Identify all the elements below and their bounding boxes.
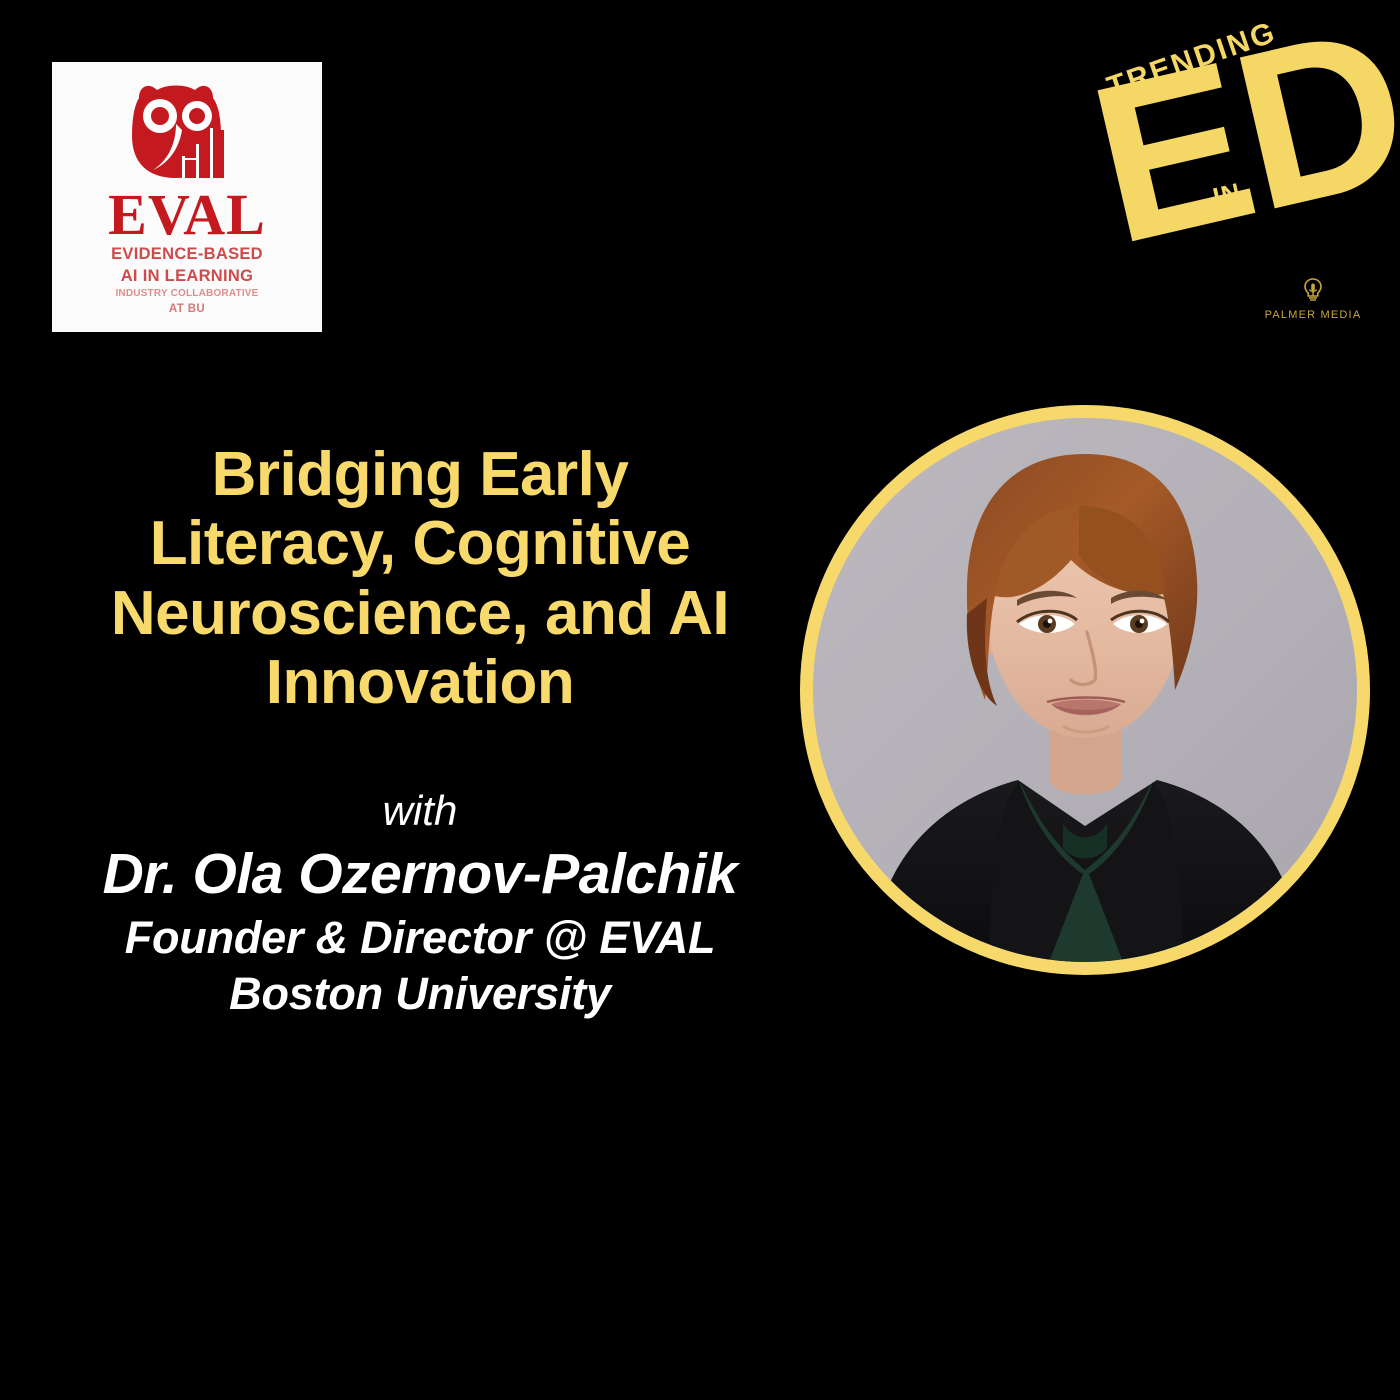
episode-title-block: Bridging Early Literacy, Cognitive Neuro…	[55, 440, 785, 718]
avatar	[813, 418, 1357, 962]
eval-wordmark: EVAL	[108, 187, 266, 242]
owl-bar-chart-icon	[127, 80, 247, 185]
eval-tagline-line1: EVIDENCE-BASED	[111, 245, 263, 263]
producer-credit: PALMER MEDIA	[1257, 277, 1369, 321]
guest-portrait-ring	[800, 405, 1370, 975]
eval-tagline-line4: AT BU	[169, 303, 205, 315]
eval-tagline-line3: INDUSTRY COLLABORATIVE	[115, 288, 258, 299]
guest-name: Dr. Ola Ozernov-Palchik	[55, 840, 785, 910]
guest-role: Founder & Director @ EVAL	[55, 910, 785, 966]
guest-with-label: with	[55, 788, 785, 834]
lightbulb-microphone-icon	[1300, 277, 1326, 303]
show-logo: ED TRENDING IN PALMER MEDIA	[1085, 55, 1375, 340]
eval-logo-card: EVAL EVIDENCE-BASED AI IN LEARNING INDUS…	[52, 62, 322, 332]
episode-title-line-1: Bridging Early	[55, 440, 785, 509]
episode-title-line-2: Literacy, Cognitive	[55, 509, 785, 578]
guest-credit-block: with Dr. Ola Ozernov-Palchik Founder & D…	[55, 788, 785, 1022]
podcast-episode-cover: EVAL EVIDENCE-BASED AI IN LEARNING INDUS…	[0, 0, 1400, 1400]
producer-name: PALMER MEDIA	[1257, 309, 1369, 321]
guest-organization: Boston University	[55, 966, 785, 1022]
episode-title-line-3: Neuroscience, and AI	[55, 579, 785, 648]
episode-title-line-4: Innovation	[55, 648, 785, 717]
eval-tagline-line2: AI IN LEARNING	[121, 267, 254, 285]
